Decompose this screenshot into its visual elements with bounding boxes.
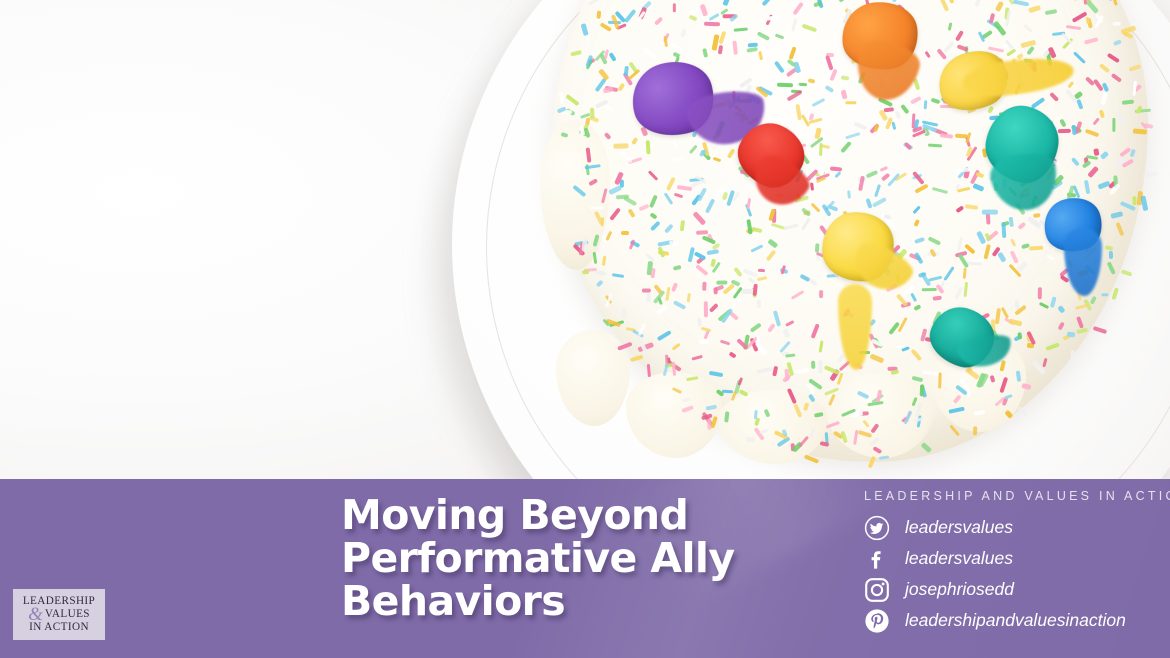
sprinkle <box>1143 172 1157 178</box>
sprinkle <box>592 234 599 247</box>
sprinkle <box>854 122 867 130</box>
sprinkle <box>722 283 735 295</box>
sprinkle <box>596 280 604 288</box>
sprinkle <box>645 140 650 154</box>
sprinkle <box>973 426 977 435</box>
sprinkle <box>802 24 817 32</box>
sprinkle <box>856 390 869 399</box>
sprinkle <box>1033 214 1041 219</box>
sprinkle <box>775 34 785 40</box>
sprinkle <box>808 394 815 402</box>
sprinkle <box>932 187 948 194</box>
sprinkle <box>1021 383 1031 390</box>
sprinkle <box>612 273 624 278</box>
sprinkle <box>1072 51 1085 63</box>
sprinkle <box>1018 222 1026 230</box>
sprinkle <box>993 20 1006 35</box>
sprinkle <box>990 375 996 383</box>
sprinkle <box>654 16 663 25</box>
sprinkle <box>929 249 936 258</box>
sprinkle <box>810 183 814 191</box>
sprinkle <box>1058 305 1066 314</box>
sprinkle <box>982 210 998 215</box>
sprinkle <box>818 290 822 298</box>
sprinkle <box>1066 25 1081 30</box>
sprinkle <box>828 393 836 405</box>
sprinkle <box>674 192 683 198</box>
logo-values-word: VALUES <box>45 609 90 620</box>
sprinkle <box>1109 251 1113 259</box>
sprinkle <box>605 231 612 241</box>
sprinkle <box>1004 410 1013 419</box>
sprinkle <box>672 342 681 350</box>
sprinkle <box>693 211 707 225</box>
sprinkle <box>710 416 718 429</box>
sprinkle <box>809 428 816 439</box>
sprinkle <box>1076 316 1084 328</box>
sprinkle <box>870 423 879 433</box>
sprinkle <box>1112 118 1115 132</box>
sprinkle <box>680 29 686 37</box>
sprinkle <box>709 370 724 377</box>
sprinkle <box>789 46 797 60</box>
sprinkle <box>841 75 850 80</box>
sprinkle <box>787 387 797 403</box>
sprinkle <box>762 0 771 6</box>
sprinkle <box>608 52 616 62</box>
sprinkle <box>874 184 881 197</box>
sprinkle <box>923 100 927 109</box>
sprinkle <box>636 11 645 22</box>
sprinkle <box>821 73 830 83</box>
sprinkle <box>938 372 942 388</box>
sprinkle <box>999 359 1006 371</box>
sprinkle <box>987 106 994 114</box>
sprinkle <box>1129 64 1142 72</box>
sprinkle <box>1009 250 1018 263</box>
sprinkle <box>863 420 870 428</box>
sprinkle <box>943 266 955 281</box>
sprinkle <box>783 328 791 338</box>
sprinkle <box>650 220 660 230</box>
sprinkle <box>647 291 652 302</box>
sprinkle <box>582 270 589 275</box>
sprinkle <box>748 277 756 284</box>
sprinkle <box>1099 109 1105 118</box>
social-row-instagram[interactable]: josephriosedd <box>862 574 1170 605</box>
sprinkle <box>732 297 742 307</box>
sprinkle <box>914 219 921 227</box>
sprinkle <box>879 455 889 459</box>
sprinkle <box>590 206 603 210</box>
sprinkle <box>1072 0 1078 2</box>
sprinkle <box>845 101 856 104</box>
sprinkle <box>673 3 676 12</box>
sprinkle <box>760 429 768 434</box>
sprinkle <box>791 18 797 31</box>
sprinkle <box>616 194 629 199</box>
sprinkle <box>956 205 965 213</box>
sprinkle <box>840 431 848 444</box>
sprinkle <box>689 14 698 21</box>
sprinkle <box>891 122 896 130</box>
sprinkle <box>933 295 942 300</box>
sprinkle <box>702 282 706 291</box>
sprinkle <box>915 184 929 193</box>
sprinkle <box>868 400 884 405</box>
sprinkle <box>670 156 683 162</box>
sprinkle <box>1099 63 1110 73</box>
sprinkle <box>1067 81 1074 89</box>
sprinkle <box>602 255 607 265</box>
sprinkle <box>758 50 763 59</box>
sprinkle <box>807 78 815 84</box>
sprinkle <box>783 223 799 230</box>
sprinkle <box>776 82 792 87</box>
sprinkle <box>771 71 785 82</box>
sprinkle <box>703 48 708 57</box>
sprinkle <box>616 341 632 350</box>
sprinkle <box>713 157 722 163</box>
sprinkle <box>901 104 910 114</box>
sprinkle <box>1107 53 1120 63</box>
sprinkle <box>1004 394 1013 400</box>
social-row-pinterest[interactable]: leadershipandvaluesinaction <box>862 605 1170 636</box>
sprinkle <box>853 430 858 446</box>
sprinkle <box>838 0 854 2</box>
sprinkle <box>1076 327 1087 333</box>
sprinkle <box>1123 31 1133 39</box>
sprinkle <box>757 366 773 373</box>
sprinkle <box>1071 125 1076 135</box>
sprinkle <box>948 22 953 30</box>
sprinkle <box>1044 9 1057 15</box>
sprinkle <box>642 289 651 293</box>
sprinkle <box>995 308 1001 324</box>
sprinkle <box>691 355 702 361</box>
facebook-handle[interactable]: leadersvalues <box>905 548 1013 569</box>
sprinkle <box>681 405 693 413</box>
sprinkle <box>1111 73 1122 83</box>
sprinkle <box>984 244 991 259</box>
sprinkle <box>743 268 758 277</box>
hero-photo <box>0 0 1170 482</box>
sprinkle <box>819 143 823 156</box>
sprinkle <box>829 69 837 81</box>
sprinkle <box>911 349 922 361</box>
sprinkle <box>847 191 851 199</box>
sprinkle <box>774 61 785 74</box>
sprinkle <box>1071 157 1080 166</box>
sprinkle <box>895 110 902 119</box>
sprinkle <box>926 0 935 1</box>
sprinkle <box>718 45 723 55</box>
sprinkle <box>1010 238 1017 247</box>
sprinkle <box>872 197 887 208</box>
sprinkle <box>930 97 940 104</box>
sprinkle <box>1049 92 1059 102</box>
sprinkle <box>963 282 968 298</box>
sprinkle <box>718 31 725 45</box>
sprinkle <box>585 54 593 67</box>
sprinkle <box>767 323 775 333</box>
sprinkle <box>713 288 718 296</box>
sprinkle <box>834 171 842 179</box>
facebook-icon[interactable] <box>862 544 892 574</box>
sprinkle <box>766 16 780 21</box>
sprinkle <box>686 376 699 381</box>
sprinkle <box>705 199 715 214</box>
sprinkle <box>701 326 712 332</box>
sprinkle <box>891 0 896 2</box>
sprinkle <box>697 317 703 326</box>
sprinkle <box>680 220 685 232</box>
sprinkle <box>957 236 964 250</box>
twitter-handle[interactable]: leadersvalues <box>905 517 1013 538</box>
instagram-icon[interactable] <box>862 575 892 605</box>
sprinkle <box>1059 118 1066 127</box>
sprinkle <box>792 290 805 300</box>
sprinkle <box>673 300 687 310</box>
sprinkle <box>604 132 612 140</box>
sprinkle <box>1113 22 1121 26</box>
sprinkle <box>757 275 768 280</box>
sprinkle <box>940 0 949 12</box>
brand-logo[interactable]: LEADERSHIP & VALUES IN ACTION <box>13 589 105 640</box>
sprinkle <box>757 335 761 345</box>
sprinkle <box>811 361 815 370</box>
sprinkle <box>924 51 931 59</box>
logo-line-in-action: IN ACTION <box>29 622 89 633</box>
sprinkle <box>956 44 968 51</box>
sprinkle <box>1101 292 1108 295</box>
sprinkle <box>720 339 731 345</box>
sprinkle <box>767 238 777 248</box>
sprinkle <box>811 323 820 338</box>
instagram-handle[interactable]: josephriosedd <box>905 579 1014 600</box>
sprinkle <box>696 230 708 234</box>
sprinkle <box>700 3 708 16</box>
sprinkle <box>596 11 600 19</box>
sprinkle <box>816 243 820 252</box>
pinterest-icon[interactable] <box>862 606 892 636</box>
sprinkle <box>1050 296 1057 307</box>
sprinkle <box>942 40 954 53</box>
sprinkle <box>801 217 811 231</box>
sprinkle <box>703 301 707 317</box>
sprinkle <box>1031 97 1045 109</box>
sprinkle <box>1029 245 1043 250</box>
sprinkle <box>1118 147 1130 158</box>
sprinkle <box>787 59 796 67</box>
sprinkle <box>777 437 790 447</box>
sprinkle <box>682 397 691 402</box>
sprinkle <box>1038 287 1042 299</box>
sprinkle <box>748 42 758 47</box>
sprinkle <box>701 236 715 245</box>
sprinkle <box>621 231 629 235</box>
sprinkle <box>1092 117 1100 125</box>
sprinkle <box>1093 148 1099 156</box>
sprinkle <box>1042 357 1048 367</box>
sprinkle <box>582 237 587 251</box>
title-line-3: Behaviors <box>341 580 841 623</box>
sprinkle <box>766 250 776 262</box>
sprinkle <box>946 0 954 3</box>
sprinkle <box>986 213 990 224</box>
sprinkle <box>734 266 743 276</box>
sprinkle <box>912 376 924 382</box>
social-row-twitter[interactable]: leadersvalues <box>862 512 1170 543</box>
sprinkle <box>650 212 658 219</box>
sprinkle <box>723 0 732 6</box>
sprinkle <box>621 307 627 318</box>
sprinkle <box>1141 196 1149 212</box>
sprinkle <box>630 137 637 145</box>
sprinkle <box>784 369 789 381</box>
sprinkle <box>939 133 953 138</box>
sprinkle <box>1083 0 1087 4</box>
sprinkle <box>585 148 591 163</box>
sprinkle <box>999 377 1007 393</box>
sprinkle <box>588 178 598 186</box>
sprinkle <box>1111 287 1118 300</box>
sprinkle <box>973 410 984 416</box>
sprinkle <box>825 55 833 70</box>
sprinkle <box>1013 0 1029 6</box>
sprinkle <box>1027 216 1042 229</box>
sprinkle <box>1101 91 1109 105</box>
sprinkle <box>919 384 924 396</box>
sprinkle <box>686 293 691 302</box>
sprinkle <box>677 185 692 191</box>
sprinkle <box>669 240 679 247</box>
sprinkle <box>912 205 921 214</box>
sprinkle <box>915 252 924 264</box>
sprinkle <box>747 47 758 53</box>
sprinkle <box>800 207 810 217</box>
sprinkle <box>624 65 630 76</box>
sprinkle <box>814 412 824 418</box>
sprinkle <box>671 282 678 292</box>
sprinkle <box>1111 212 1124 219</box>
sprinkle <box>897 345 905 348</box>
sprinkle <box>609 208 621 222</box>
sprinkle <box>1046 343 1060 351</box>
sprinkle <box>1071 349 1075 359</box>
sprinkle <box>752 226 763 233</box>
sprinkle <box>1132 196 1136 206</box>
sprinkle <box>749 244 762 253</box>
sprinkle <box>642 47 657 59</box>
twitter-icon[interactable] <box>862 513 892 543</box>
sprinkle <box>866 170 879 179</box>
sprinkle <box>695 265 708 277</box>
sprinkle <box>590 108 595 119</box>
sprinkle <box>972 183 984 192</box>
sprinkle <box>699 340 709 344</box>
sprinkle <box>976 230 986 243</box>
sprinkle <box>928 275 942 281</box>
sprinkle <box>657 330 672 341</box>
social-row-facebook[interactable]: leadersvalues <box>862 543 1170 574</box>
sprinkle <box>887 321 899 335</box>
sprinkle <box>995 1 1004 12</box>
sprinkle <box>629 354 643 362</box>
sprinkle <box>672 138 677 148</box>
sprinkle <box>671 387 681 394</box>
sprinkle <box>665 286 670 300</box>
sprinkle <box>716 281 727 285</box>
sprinkle <box>884 214 892 220</box>
sprinkle <box>1015 370 1021 381</box>
pinterest-handle[interactable]: leadershipandvaluesinaction <box>905 610 1126 631</box>
sprinkle <box>608 186 621 195</box>
sprinkle <box>818 341 823 353</box>
sprinkle <box>953 394 962 403</box>
sprinkle <box>600 188 607 203</box>
sprinkle <box>955 31 964 42</box>
sprinkle <box>785 353 796 357</box>
sprinkle <box>950 424 961 436</box>
sprinkle <box>867 456 875 468</box>
sprinkle <box>704 22 720 26</box>
sprinkle <box>598 69 609 81</box>
social-block: LEADERSHIP AND VALUES IN ACTION leadersv… <box>862 489 1170 636</box>
sprinkle <box>820 441 830 447</box>
sprinkle <box>639 204 650 211</box>
sprinkle <box>665 224 674 234</box>
sprinkle <box>689 145 698 155</box>
sprinkle <box>588 0 601 5</box>
sprinkle <box>1027 46 1035 56</box>
sprinkle <box>922 288 937 291</box>
title-line-2: Performative Ally <box>341 537 841 580</box>
sprinkle <box>873 446 882 453</box>
slide-canvas: LEADERSHIP & VALUES IN ACTION Moving Bey… <box>0 0 1170 658</box>
sprinkle <box>601 217 605 226</box>
sprinkle <box>911 113 915 128</box>
sprinkle <box>949 406 965 413</box>
sprinkle <box>617 83 625 92</box>
sprinkle <box>811 203 821 213</box>
sprinkle <box>1114 40 1122 46</box>
sprinkle <box>733 27 747 31</box>
sprinkle <box>779 340 791 353</box>
social-block-title: LEADERSHIP AND VALUES IN ACTION <box>864 489 1170 503</box>
sprinkle <box>688 7 700 16</box>
sprinkle <box>796 368 810 373</box>
sprinkle <box>592 252 597 264</box>
sprinkle <box>757 299 761 307</box>
sprinkle <box>566 94 580 106</box>
sprinkle <box>998 252 1007 263</box>
sprinkle <box>670 42 683 51</box>
sprinkle <box>844 132 860 140</box>
sprinkle <box>1116 113 1125 126</box>
sprinkle <box>653 284 663 294</box>
sprinkle <box>559 91 564 103</box>
sprinkle <box>1089 296 1097 305</box>
page-title: Moving Beyond Performative Ally Behavior… <box>341 494 841 623</box>
sprinkle <box>1105 245 1114 250</box>
sprinkle <box>708 13 719 21</box>
sprinkle <box>1058 129 1071 133</box>
sprinkle <box>664 193 674 205</box>
sprinkle <box>1084 129 1099 138</box>
sprinkle <box>649 194 658 207</box>
sprinkle <box>571 50 582 56</box>
